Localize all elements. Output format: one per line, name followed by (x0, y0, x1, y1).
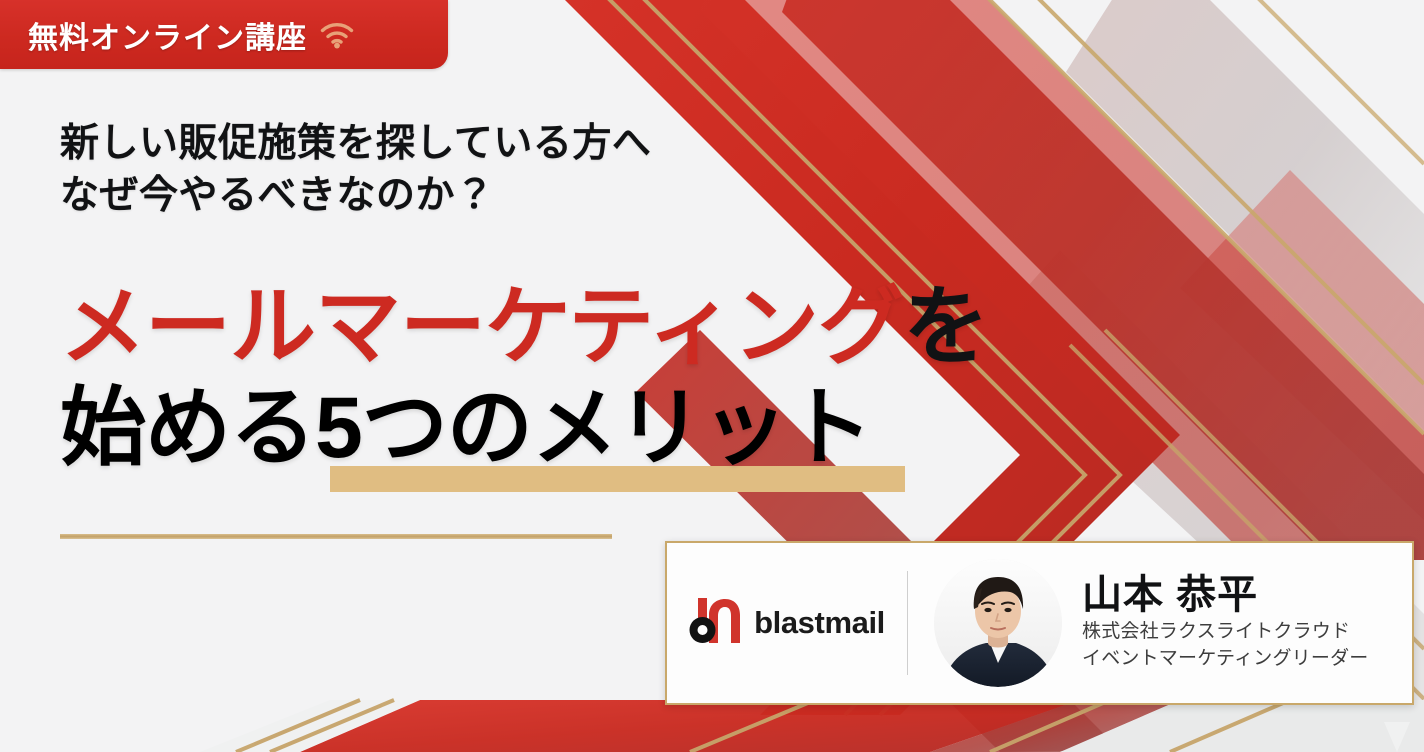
speaker-info: 山本 恭平 株式会社ラクスライトクラウド イベントマーケティングリーダー (908, 559, 1368, 687)
speaker-company: 株式会社ラクスライトクラウド (1082, 619, 1368, 646)
subheadline-line-2: なぜ今やるべきなのか？ (60, 170, 651, 222)
speaker-role: イベントマーケティングリーダー (1082, 646, 1368, 673)
brand-logo: blastmail (667, 543, 907, 703)
gold-divider-rule (60, 534, 612, 539)
speaker-card: blastmail (665, 541, 1414, 705)
brand-logo-text: blastmail (754, 605, 885, 641)
speaker-name: 山本 恭平 (1082, 573, 1368, 619)
bottom-notch-marker (1384, 722, 1410, 752)
bn-monogram-icon (689, 598, 741, 649)
main-headline-emphasis: メールマーケティング (60, 279, 903, 375)
main-headline-block: メールマーケティングを 始める5つのメリット (60, 277, 988, 480)
main-headline-line-1: メールマーケティングを (60, 277, 988, 378)
wifi-icon (319, 21, 355, 49)
subheadline-line-1: 新しい販促施策を探している方へ (60, 118, 651, 170)
webinar-banner: 無料オンライン講座 新しい販促施策を探している方へ なぜ今やるべきなのか？ メー… (0, 0, 1424, 752)
badge-label: 無料オンライン講座 (28, 13, 307, 57)
main-headline-line-2: 始める5つのメリット (60, 378, 988, 479)
subheadline-block: 新しい販促施策を探している方へ なぜ今やるべきなのか？ (60, 118, 651, 222)
main-headline-line-2-text: 始める5つのメリット (60, 380, 872, 476)
free-webinar-badge: 無料オンライン講座 (0, 0, 448, 69)
speaker-avatar (934, 559, 1062, 687)
main-headline-particle: を (903, 279, 988, 375)
